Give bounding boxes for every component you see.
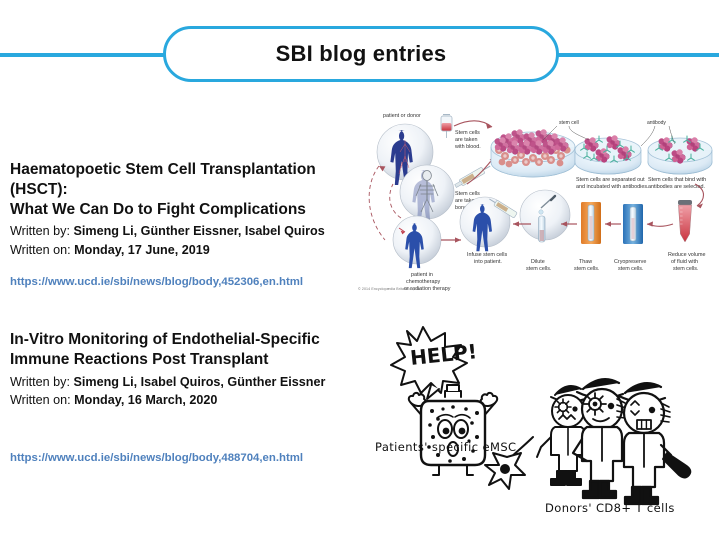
slide-canvas: SBI blog entries Haematopoetic Stem Cell… (0, 0, 719, 540)
svg-text:Dilute: Dilute (531, 259, 545, 265)
svg-text:Stem cells: Stem cells (455, 191, 480, 197)
caption-cd8: Donors' CD8+ T cells (545, 501, 675, 515)
entry-1-written-by: Written by: Simeng Li, Günther Eissner, … (10, 222, 355, 240)
entry-1-title-line1: Haematopoetic Stem Cell Transplantation (10, 161, 316, 178)
svg-text:stem cells.: stem cells. (574, 266, 599, 272)
title-banner: SBI blog entries (0, 26, 719, 86)
page-title: SBI blog entries (276, 41, 447, 67)
svg-text:Reduce volume: Reduce volume (668, 252, 705, 258)
svg-text:Thaw: Thaw (579, 259, 592, 265)
svg-text:of fluid with: of fluid with (671, 259, 698, 265)
entry-2-title: In-Vitro Monitoring of Endothelial-Speci… (10, 330, 355, 370)
emsc-cd8-cartoon-figure: HELP! (365, 325, 715, 520)
svg-text:stem cells.: stem cells. (526, 266, 551, 272)
label-stem-cell: stem cell (559, 120, 579, 126)
entry-2-written-by: Written by: Simeng Li, Isabel Quiros, Gü… (10, 373, 355, 391)
svg-text:Stem cells that bind with: Stem cells that bind with (648, 177, 706, 183)
entry-2-title-line2: Immune Reactions Post Transplant (10, 351, 268, 368)
entry-2-title-line1: In-Vitro Monitoring of Endothelial-Speci… (10, 331, 320, 348)
svg-text:Stem cells are separated out: Stem cells are separated out (576, 177, 645, 183)
entry-2-written-on-value: Monday, 16 March, 2020 (74, 393, 217, 407)
stem-cell-transplantation-figure: patient or donor Stem cells are taken wi… (355, 100, 715, 300)
svg-text:stem cells.: stem cells. (673, 266, 698, 272)
label-antibody: antibody (647, 120, 666, 126)
entry-1-written-on: Written on: Monday, 17 June, 2019 (10, 241, 355, 259)
svg-text:chemotherapy: chemotherapy (406, 279, 440, 285)
svg-text:Cryopreserve: Cryopreserve (614, 259, 646, 265)
figure-credit: © 2014 Encyclopædia Britannica, Inc. (358, 287, 422, 291)
svg-text:Infuse stem cells: Infuse stem cells (467, 252, 507, 258)
entry-2-written-on-label: Written on: (10, 393, 71, 407)
title-pill: SBI blog entries (163, 26, 559, 82)
entry-1-title: Haematopoetic Stem Cell Transplantation … (10, 160, 355, 219)
svg-text:into patient.: into patient. (474, 259, 502, 265)
svg-text:are taken: are taken (455, 137, 477, 143)
entry-1-written-on-label: Written on: (10, 243, 71, 257)
entry-1-written-by-label: Written by: (10, 224, 70, 238)
blog-entry-2: In-Vitro Monitoring of Endothelial-Speci… (10, 330, 355, 466)
entry-1-written-by-value: Simeng Li, Günther Eissner, Isabel Quiro… (73, 224, 324, 238)
svg-text:stem cells.: stem cells. (618, 266, 643, 272)
entry-2-written-by-value: Simeng Li, Isabel Quiros, Günther Eissne… (73, 375, 325, 389)
entry-2-written-by-label: Written by: (10, 375, 70, 389)
blog-entry-1: Haematopoetic Stem Cell Transplantation … (10, 160, 355, 290)
entry-1-meta: Written by: Simeng Li, Günther Eissner, … (10, 222, 355, 259)
entry-2-written-on: Written on: Monday, 16 March, 2020 (10, 391, 355, 409)
entry-2-url-link[interactable]: https://www.ucd.ie/sbi/news/blog/body,48… (10, 451, 355, 466)
caption-emsc: Patients' specific eMSC (375, 440, 516, 454)
entry-1-written-on-value: Monday, 17 June, 2019 (74, 243, 210, 257)
entry-2-meta: Written by: Simeng Li, Isabel Quiros, Gü… (10, 373, 355, 410)
svg-text:patient or donor: patient or donor (383, 113, 421, 119)
svg-text:and incubated with antibodies.: and incubated with antibodies. (576, 184, 649, 190)
svg-text:Stem cells: Stem cells (455, 130, 480, 136)
svg-text:patient in: patient in (411, 272, 433, 278)
entry-1-title-line3: What We Can Do to Fight Complications (10, 201, 306, 218)
entry-1-url-link[interactable]: https://www.ucd.ie/sbi/news/blog/body,45… (10, 275, 355, 290)
entry-1-title-line2: (HSCT): (10, 181, 68, 198)
svg-text:with blood.: with blood. (454, 144, 481, 150)
